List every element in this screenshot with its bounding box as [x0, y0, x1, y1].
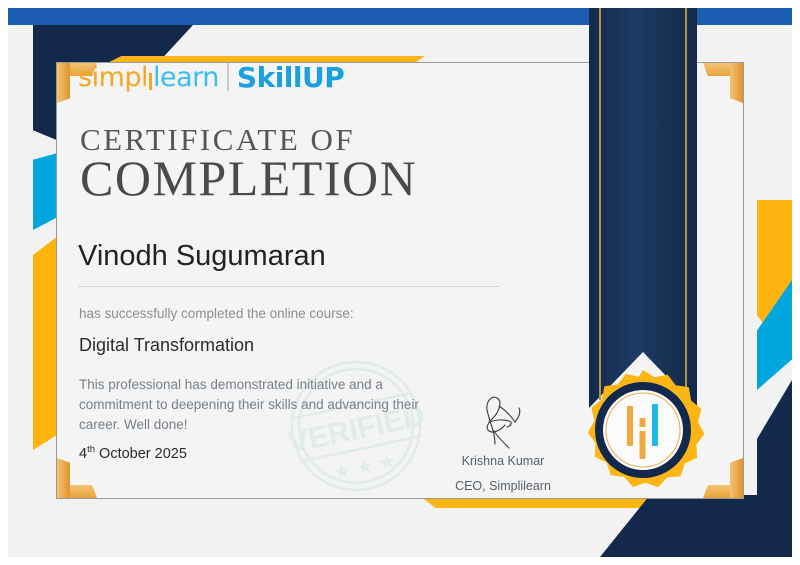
navy-ribbon-pillar — [589, 8, 697, 408]
ribbon-gold-line-left — [599, 8, 601, 400]
corner-bracket-top-right — [703, 63, 743, 103]
completion-seal — [575, 368, 711, 504]
issue-date-day: 4 — [79, 446, 87, 462]
simplilearn-skillup-logo: simpl learn SkillUP — [78, 60, 344, 94]
logo-i-bar-icon — [149, 73, 152, 90]
logo-simpli-text: simpl — [78, 62, 148, 93]
corner-bracket-bottom-left — [57, 458, 97, 498]
issue-date: 4th October 2025 — [79, 444, 187, 462]
signature-image — [438, 392, 568, 450]
logo-divider — [227, 63, 229, 91]
signatory-name: Krishna Kumar — [438, 454, 568, 468]
ribbon-gold-line-right — [685, 8, 687, 400]
issue-date-ordinal: th — [87, 444, 95, 455]
certificate-title-line2: COMPLETION — [80, 149, 417, 207]
verified-watermark-stars: ★ ★ ★ — [332, 450, 398, 485]
recipient-name: Vinodh Sugumaran — [78, 240, 326, 273]
recipient-underline — [79, 286, 499, 287]
issue-date-rest: October 2025 — [99, 446, 187, 462]
certificate-blurb: This professional has demonstrated initi… — [79, 375, 434, 435]
logo-learn-text: learn — [153, 62, 219, 93]
logo-skillup-text: SkillUP — [237, 61, 344, 94]
signatory-title: CEO, Simplilearn — [438, 479, 568, 493]
signature-block: Krishna Kumar CEO, Simplilearn — [438, 392, 568, 493]
course-name: Digital Transformation — [79, 335, 254, 356]
certificate-canvas: VERIFIED ★ ★ ★ simpl learn SkillUP CERTI… — [0, 0, 800, 565]
completion-subtitle: has successfully completed the online co… — [79, 306, 354, 321]
